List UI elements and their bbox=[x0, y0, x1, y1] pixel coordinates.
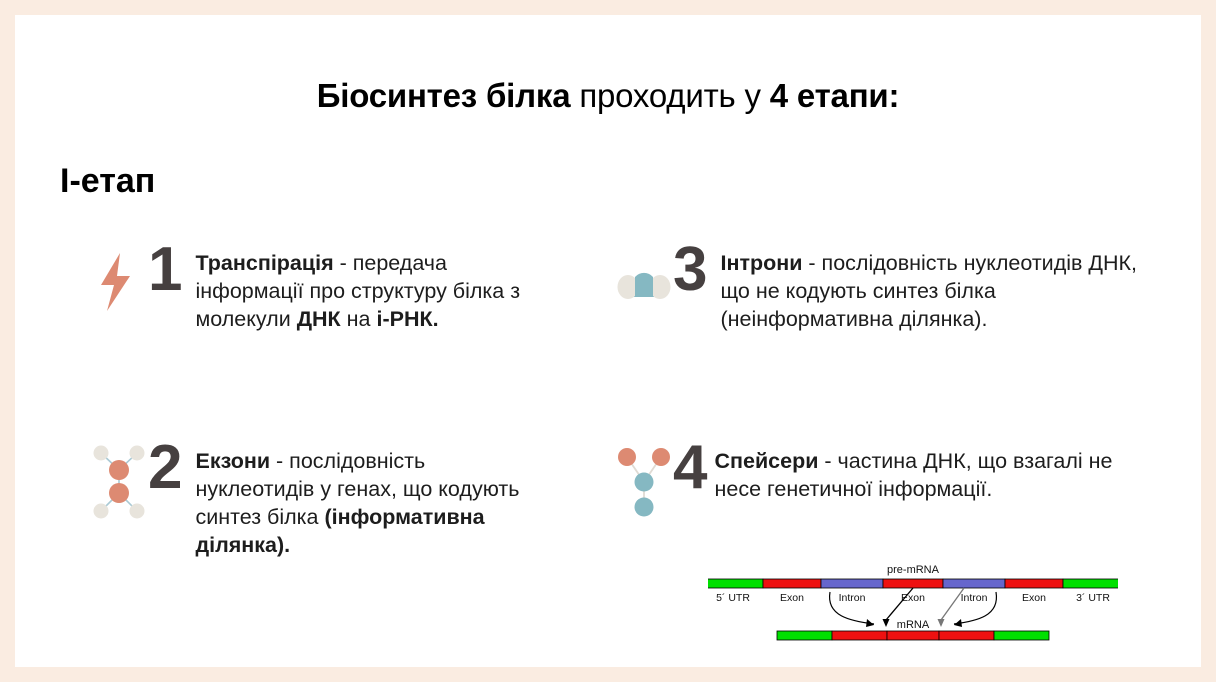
blob-arch-icon bbox=[615, 247, 673, 317]
item-body-middle: на bbox=[341, 307, 377, 331]
lightning-bolt-icon bbox=[90, 247, 148, 317]
list-item: 2 Екзони - послідовність нуклеотидів у г… bbox=[90, 445, 550, 559]
diagram-arrow bbox=[886, 588, 913, 620]
diagram-segment bbox=[1063, 579, 1118, 588]
diagram-segment bbox=[763, 579, 821, 588]
diagram-segment-label: Intron bbox=[961, 592, 988, 604]
diagram-bottom-label: mRNA bbox=[897, 619, 930, 631]
diagram-segment bbox=[1005, 579, 1063, 588]
diagram-segment bbox=[821, 579, 883, 588]
diagram-segment-label: 3´ UTR bbox=[1076, 592, 1110, 604]
item-number: 1 bbox=[148, 241, 181, 299]
item-term: Спейсери bbox=[714, 449, 818, 473]
diagram-segment bbox=[887, 631, 939, 640]
molecule-x-icon bbox=[90, 445, 148, 515]
page-title: Біосинтез білка проходить у 4 етапи: bbox=[15, 77, 1201, 115]
diagram-arrowhead bbox=[883, 619, 890, 627]
item-body: Екзони - послідовність нуклеотидів у ген… bbox=[195, 447, 550, 559]
stage-label: I-етап bbox=[60, 162, 155, 201]
diagram-arrowhead bbox=[938, 619, 945, 627]
diagram-arrowhead bbox=[954, 619, 962, 627]
diagram-segment-label: Exon bbox=[780, 592, 804, 604]
item-term: Екзони bbox=[195, 449, 270, 473]
diagram-arrow bbox=[941, 588, 964, 620]
diagram-segment bbox=[883, 579, 943, 588]
diagram-top-label: pre-mRNA bbox=[887, 564, 940, 576]
diagram-segment-label: 5´ UTR bbox=[716, 592, 750, 604]
item-term: Інтрони bbox=[720, 251, 802, 275]
item-bold-2: і-РНК. bbox=[376, 307, 438, 331]
list-item: 1 Транспірація - передача інформації про… bbox=[90, 247, 550, 333]
item-body: Спейсери - частина ДНК, що взагалі не не… bbox=[714, 447, 1160, 503]
list-item: 3 Інтрони - послідовність нуклеотидів ДН… bbox=[615, 247, 1160, 333]
diagram-arrowhead bbox=[866, 619, 874, 627]
list-item: 4 Спейсери - частина ДНК, що взагалі не … bbox=[615, 445, 1160, 515]
diagram-segment-label: Exon bbox=[1022, 592, 1046, 604]
diagram-segment-label: Intron bbox=[839, 592, 866, 604]
item-number: 2 bbox=[148, 439, 181, 497]
title-part-bold-1: Біосинтез білка bbox=[317, 77, 571, 114]
slide-canvas: Біосинтез білка проходить у 4 етапи: I-е… bbox=[15, 15, 1201, 667]
molecule-y-icon bbox=[615, 445, 673, 515]
diagram-segment bbox=[939, 631, 994, 640]
pre-mrna-splicing-diagram: 5´ UTRExonIntronExonIntronExon3´ UTRpre-… bbox=[708, 558, 1118, 653]
diagram-segment bbox=[777, 631, 832, 640]
diagram-segment bbox=[943, 579, 1005, 588]
diagram-segment bbox=[994, 631, 1049, 640]
item-body: Транспірація - передача інформації про с… bbox=[195, 249, 550, 333]
title-part-regular: проходить у bbox=[570, 77, 769, 114]
diagram-segment bbox=[708, 579, 763, 588]
title-part-bold-2: 4 етапи: bbox=[770, 77, 900, 114]
diagram-segment bbox=[832, 631, 887, 640]
item-number: 3 bbox=[673, 241, 706, 299]
item-number: 4 bbox=[673, 439, 706, 497]
item-body: Інтрони - послідовність нуклеотидів ДНК,… bbox=[720, 249, 1160, 333]
item-bold-1: ДНК bbox=[297, 307, 341, 331]
item-term: Транспірація bbox=[195, 251, 333, 275]
